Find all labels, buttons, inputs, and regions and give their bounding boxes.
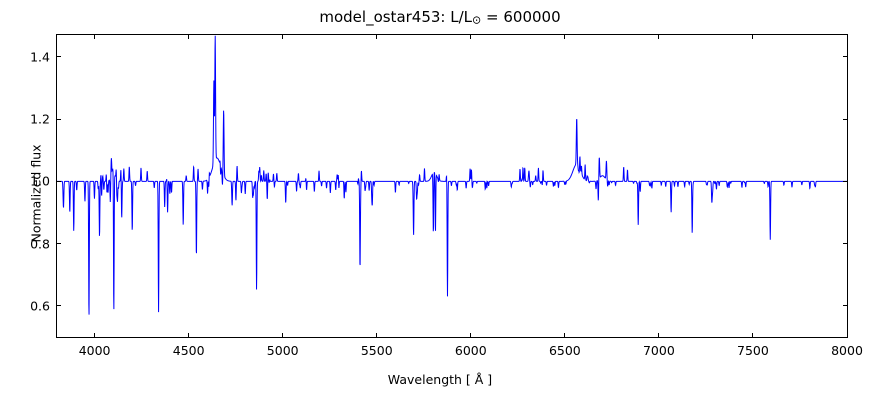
x-tick-mark (470, 333, 471, 337)
x-tick-mark (564, 35, 565, 39)
x-tick-label: 5500 (361, 343, 393, 358)
x-tick-mark (376, 333, 377, 337)
y-tick-mark (57, 243, 61, 244)
x-tick-mark (470, 35, 471, 39)
chart-title-suffix: = 600000 (481, 8, 560, 26)
x-tick-mark (847, 333, 848, 337)
x-tick-label: 8000 (831, 343, 863, 358)
plot-area (56, 34, 848, 338)
x-tick-mark (188, 333, 189, 337)
x-tick-label: 7000 (643, 343, 675, 358)
x-tick-label: 6500 (549, 343, 581, 358)
spectrum-line-series (57, 35, 847, 337)
x-tick-label: 7500 (737, 343, 769, 358)
x-tick-label: 5000 (267, 343, 299, 358)
y-tick-mark (843, 56, 847, 57)
chart-title: model_ostar453: L/L⊙ = 600000 (0, 8, 880, 27)
x-tick-label: 4000 (79, 343, 111, 358)
x-tick-mark (282, 35, 283, 39)
y-tick-mark (57, 305, 61, 306)
x-tick-mark (376, 35, 377, 39)
spectrum-figure: model_ostar453: L/L⊙ = 600000 4000450050… (0, 0, 880, 400)
x-tick-mark (282, 333, 283, 337)
y-tick-mark (843, 119, 847, 120)
x-tick-mark (752, 35, 753, 39)
x-tick-label: 4500 (173, 343, 205, 358)
x-tick-mark (188, 35, 189, 39)
y-tick-mark (843, 305, 847, 306)
x-tick-mark (658, 35, 659, 39)
y-axis-label: Normalized flux (29, 114, 44, 274)
solar-symbol-icon: ⊙ (472, 14, 481, 27)
y-tick-label: 1.4 (14, 49, 50, 64)
x-tick-mark (658, 333, 659, 337)
y-tick-mark (57, 119, 61, 120)
x-tick-mark (564, 333, 565, 337)
x-axis-label: Wavelength [ Å ] (0, 372, 880, 387)
x-tick-label: 6000 (455, 343, 487, 358)
x-tick-mark (94, 333, 95, 337)
y-tick-label: 0.6 (14, 298, 50, 313)
x-tick-mark (752, 333, 753, 337)
x-tick-mark (94, 35, 95, 39)
x-tick-mark (847, 35, 848, 39)
y-tick-mark (57, 181, 61, 182)
y-tick-mark (57, 56, 61, 57)
chart-title-prefix: model_ostar453: L/L (319, 8, 472, 26)
y-tick-mark (843, 181, 847, 182)
y-tick-mark (843, 243, 847, 244)
